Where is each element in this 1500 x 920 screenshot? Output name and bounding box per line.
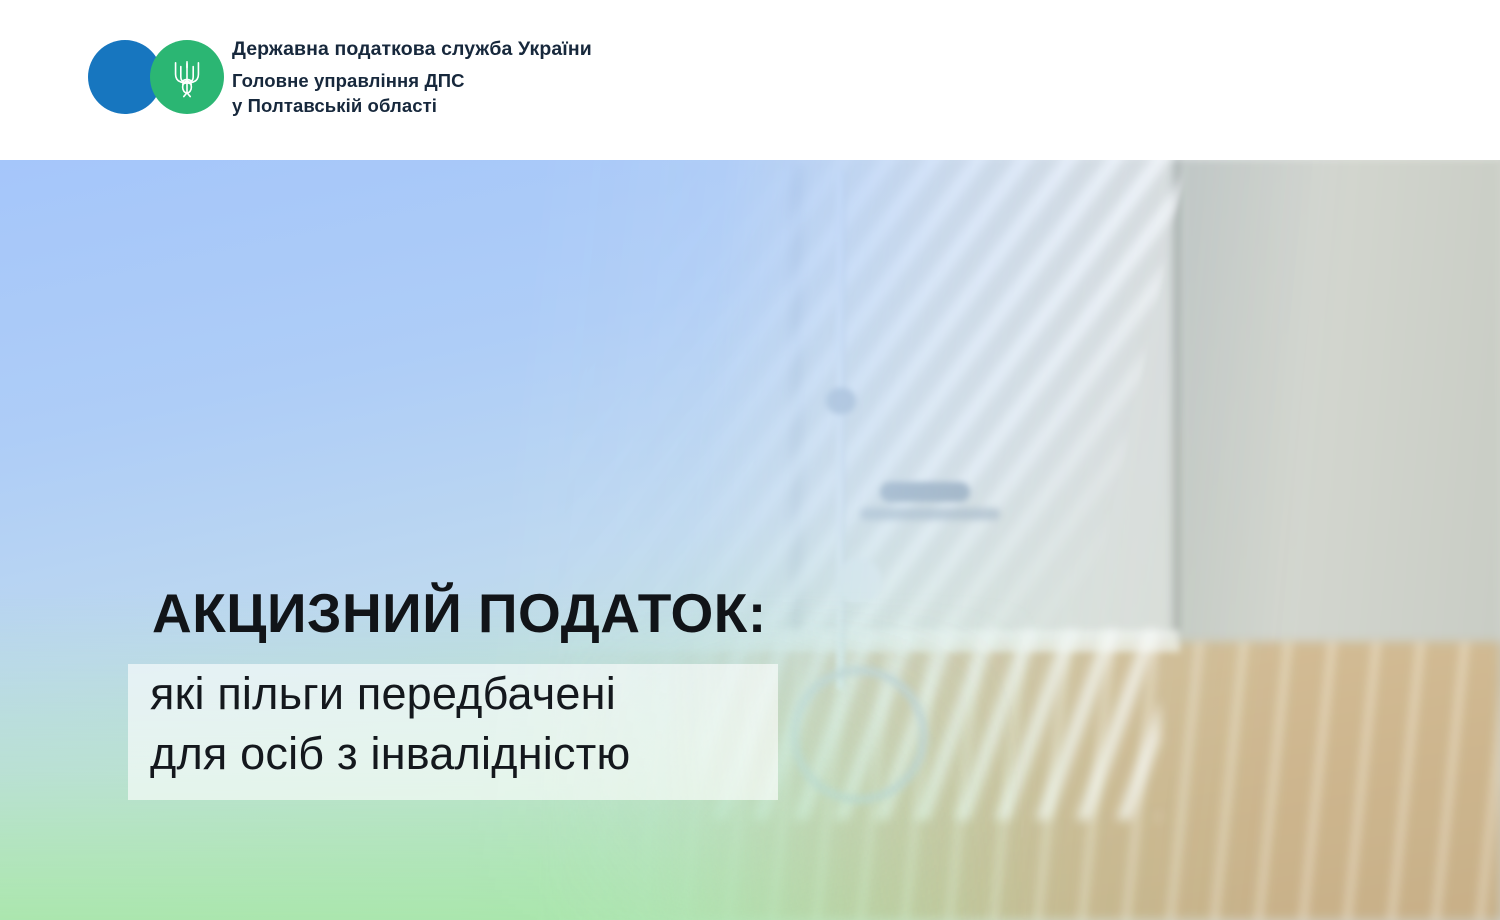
org-line-1: Державна податкова служба України <box>232 38 592 60</box>
headline-title: АКЦИЗНИЙ ПОДАТОК: <box>152 584 850 642</box>
headline-subtitle-line-1: які пільги передбачені <box>150 664 850 724</box>
ukraine-trident-icon <box>170 58 204 98</box>
site-header: Державна податкова служба України Головн… <box>0 0 1500 160</box>
org-line-3: у Полтавській області <box>232 94 592 119</box>
headline-subtitle: які пільги передбачені для осіб з інвалі… <box>150 664 850 784</box>
hero-banner: безбар'єрність АКЦИЗНИЙ ПОДАТОК: <box>0 160 1500 920</box>
header-content: Державна податкова служба України Головн… <box>88 36 592 120</box>
dps-logo[interactable] <box>88 36 224 120</box>
banner-page: Державна податкова служба України Головн… <box>0 0 1500 920</box>
org-name-block: Державна податкова служба України Головн… <box>232 36 592 119</box>
headline-block: АКЦИЗНИЙ ПОДАТОК: які пільги передбачені… <box>150 584 850 784</box>
headline-subtitle-line-2: для осіб з інвалідністю <box>150 724 850 784</box>
org-line-2: Головне управління ДПС <box>232 69 592 94</box>
